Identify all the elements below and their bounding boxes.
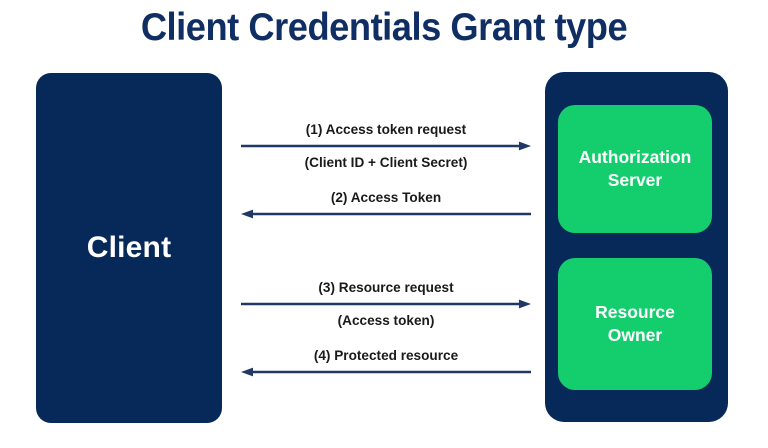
node-authorization-server-line1: Authorization (579, 147, 692, 167)
message-3: (3) Resource request (Access token) (240, 278, 532, 330)
message-4-label-above: (4) Protected resource (240, 346, 532, 365)
node-authorization-server-label: AuthorizationServer (579, 146, 692, 192)
diagram-canvas: Client Credentials Grant type Client Aut… (0, 0, 768, 448)
node-authorization-server-line2: Server (608, 170, 663, 190)
arrow-right-icon-1 (240, 141, 532, 151)
message-3-label-above: (3) Resource request (240, 278, 532, 297)
message-2: (2) Access Token (240, 188, 532, 219)
message-3-label-below: (Access token) (240, 311, 532, 330)
node-authorization-server[interactable]: AuthorizationServer (558, 105, 712, 233)
node-client[interactable]: Client (36, 73, 222, 423)
server-group-container: AuthorizationServer ResourceOwner (545, 72, 728, 422)
node-resource-owner-line2: Owner (608, 325, 662, 345)
node-resource-owner-label: ResourceOwner (595, 301, 675, 347)
node-resource-owner-line1: Resource (595, 302, 675, 322)
page-title: Client Credentials Grant type (27, 4, 741, 52)
node-client-label: Client (87, 231, 172, 265)
message-2-label-above: (2) Access Token (240, 188, 532, 207)
message-1: (1) Access token request (Client ID + Cl… (240, 120, 532, 172)
message-4: (4) Protected resource (240, 346, 532, 377)
message-1-label-below: (Client ID + Client Secret) (240, 153, 532, 172)
node-resource-owner[interactable]: ResourceOwner (558, 258, 712, 390)
arrow-left-icon-4 (240, 367, 532, 377)
arrow-left-icon-2 (240, 209, 532, 219)
message-1-label-above: (1) Access token request (240, 120, 532, 139)
arrow-right-icon-3 (240, 299, 532, 309)
